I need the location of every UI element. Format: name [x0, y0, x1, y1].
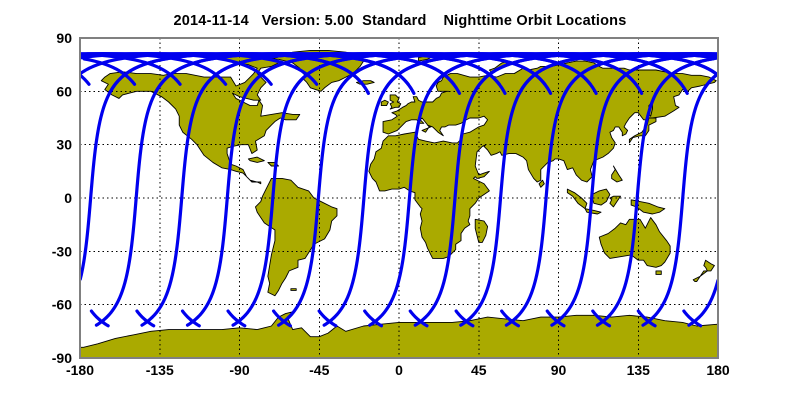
y-tick-0: 90	[56, 30, 72, 46]
y-tick-4: -30	[52, 243, 72, 259]
x-tick-7: 135	[627, 362, 651, 378]
x-tick-2: -90	[229, 362, 249, 378]
y-axis-tick-labels: 9060300-30-60-90	[52, 30, 72, 366]
x-tick-3: -45	[309, 362, 329, 378]
y-tick-5: -60	[52, 297, 72, 313]
chart-figure: 2014-11-14 Version: 5.00 Standard Nightt…	[0, 0, 800, 400]
landmass-tasmania	[656, 271, 661, 275]
orbit-map-plot: -180-135-90-4504590135180 9060300-30-60-…	[0, 0, 800, 400]
y-tick-2: 30	[56, 137, 72, 153]
x-tick-8: 180	[706, 362, 730, 378]
landmass-cuba2	[291, 289, 296, 291]
x-axis-tick-labels: -180-135-90-4504590135180	[66, 362, 730, 378]
x-tick-5: 45	[471, 362, 487, 378]
x-tick-1: -135	[146, 362, 174, 378]
x-tick-4: 0	[395, 362, 403, 378]
y-tick-3: 0	[64, 190, 72, 206]
x-tick-6: 90	[551, 362, 567, 378]
landmass-ireland	[381, 100, 388, 105]
y-tick-6: -90	[52, 350, 72, 366]
y-tick-1: 60	[56, 83, 72, 99]
